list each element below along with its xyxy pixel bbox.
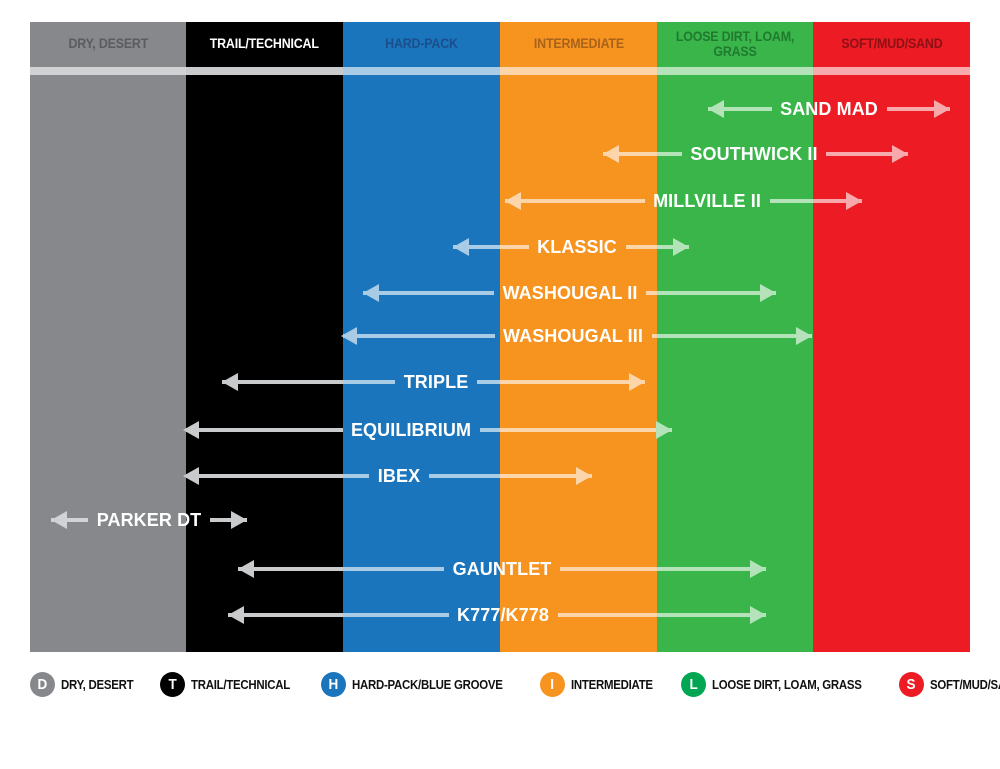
legend-badge-letter: S — [907, 676, 916, 693]
band-header-row: DRY, DESERTTRAIL/TECHNICALHARD-PACKINTER… — [30, 22, 970, 67]
legend-label-text: DRY, DESERT — [61, 677, 133, 692]
legend-badge-icon: L — [681, 672, 706, 697]
legend-label: LOOSE DIRT, LOAM, GRASS — [712, 677, 882, 692]
legend-badge-letter: L — [689, 676, 697, 693]
legend-label: DRY, DESERT — [61, 677, 143, 692]
band-header-label: HARD-PACK — [385, 37, 458, 52]
legend-item-t[interactable]: TTRAIL/TECHNICAL — [160, 672, 304, 697]
legend: DDRY, DESERTTTRAIL/TECHNICALHHARD-PACK/B… — [30, 668, 970, 700]
band-header-label: TRAIL/TECHNICAL — [210, 37, 319, 52]
separator-segment-5 — [813, 67, 970, 75]
legend-item-s[interactable]: SSOFT/MUD/SAND — [899, 672, 1000, 697]
band-column-5 — [813, 75, 970, 652]
legend-badge-letter: T — [169, 676, 177, 693]
band-columns — [30, 75, 970, 652]
band-header-label: INTERMEDIATE — [533, 37, 623, 52]
legend-badge-icon: I — [540, 672, 565, 697]
legend-label: INTERMEDIATE — [571, 677, 664, 692]
legend-label-text: HARD-PACK/BLUE GROOVE — [352, 677, 503, 692]
legend-item-i[interactable]: IINTERMEDIATE — [540, 672, 664, 697]
band-column-1 — [186, 75, 343, 652]
legend-badge-letter: D — [38, 676, 48, 693]
band-header-0: DRY, DESERT — [30, 22, 186, 67]
legend-label: TRAIL/TECHNICAL — [191, 677, 304, 692]
terrain-chart: DRY, DESERTTRAIL/TECHNICALHARD-PACKINTER… — [30, 22, 970, 652]
band-column-0 — [30, 75, 186, 652]
legend-label-text: INTERMEDIATE — [571, 677, 653, 692]
separator-segment-2 — [343, 67, 500, 75]
legend-badge-icon: S — [899, 672, 924, 697]
legend-item-d[interactable]: DDRY, DESERT — [30, 672, 143, 697]
band-header-4: LOOSE DIRT, LOAM, GRASS — [657, 22, 813, 67]
band-header-label: LOOSE DIRT, LOAM, GRASS — [665, 30, 805, 59]
legend-label: SOFT/MUD/SAND — [930, 677, 1000, 692]
band-header-3: INTERMEDIATE — [500, 22, 657, 67]
band-header-label: SOFT/MUD/SAND — [841, 37, 942, 52]
legend-badge-letter: I — [550, 676, 554, 693]
legend-badge-icon: H — [321, 672, 346, 697]
separator-segment-1 — [186, 67, 343, 75]
separator-segment-0 — [30, 67, 186, 75]
band-header-5: SOFT/MUD/SAND — [813, 22, 970, 67]
separator-segment-3 — [500, 67, 657, 75]
legend-label-text: SOFT/MUD/SAND — [930, 677, 1000, 692]
legend-badge-letter: H — [328, 676, 338, 693]
legend-item-l[interactable]: LLOOSE DIRT, LOAM, GRASS — [681, 672, 882, 697]
header-separator — [30, 67, 970, 75]
legend-item-h[interactable]: HHARD-PACK/BLUE GROOVE — [321, 672, 523, 697]
separator-segment-4 — [657, 67, 813, 75]
band-header-2: HARD-PACK — [343, 22, 500, 67]
band-column-4 — [657, 75, 813, 652]
band-header-1: TRAIL/TECHNICAL — [186, 22, 343, 67]
legend-label-text: LOOSE DIRT, LOAM, GRASS — [712, 677, 862, 692]
legend-label: HARD-PACK/BLUE GROOVE — [352, 677, 523, 692]
legend-badge-icon: T — [160, 672, 185, 697]
band-header-label: DRY, DESERT — [68, 37, 148, 52]
legend-badge-icon: D — [30, 672, 55, 697]
band-column-2 — [343, 75, 500, 652]
band-column-3 — [500, 75, 657, 652]
legend-label-text: TRAIL/TECHNICAL — [191, 677, 290, 692]
